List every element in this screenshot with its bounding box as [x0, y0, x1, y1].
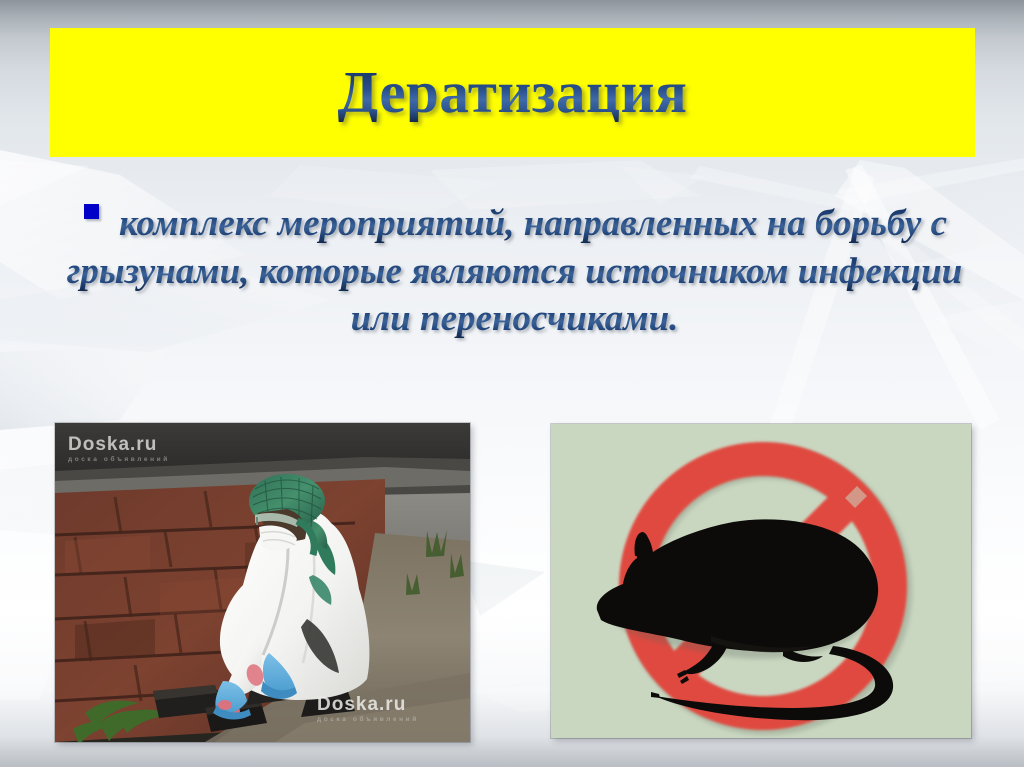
no-rats-sign-image — [551, 424, 971, 738]
square-bullet-icon — [84, 204, 99, 219]
page-title: Дератизация — [338, 63, 688, 122]
bullet-item-label: комплекс мероприятий, направленных на бо… — [67, 203, 962, 339]
title-banner: Дератизация — [50, 28, 975, 157]
list-item: комплекс мероприятий, направленных на бо… — [62, 200, 967, 343]
presentation-slide: Дератизация комплекс мероприятий, направ… — [0, 0, 1024, 767]
bullet-list: комплекс мероприятий, направленных на бо… — [62, 200, 967, 343]
pest-control-worker-photo: Doska.ru доска объявлений Doska.ru доска… — [55, 423, 470, 742]
